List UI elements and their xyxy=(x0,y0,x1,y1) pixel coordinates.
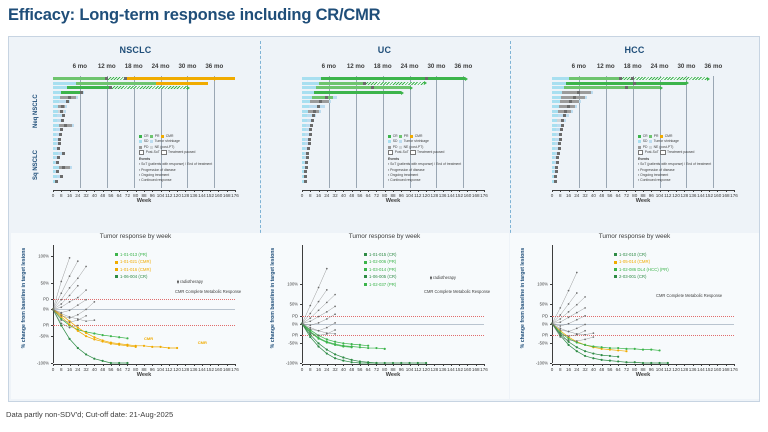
bar-segment-sd xyxy=(302,86,316,89)
x-tick-label: 96 xyxy=(399,193,404,198)
x-tick-label: 80 xyxy=(382,193,387,198)
spider-legend-label: 1-01-016 (CMR) xyxy=(120,266,151,273)
event-marker xyxy=(306,152,309,155)
x-tick-label: 168 xyxy=(472,367,480,372)
swimmer-bar xyxy=(302,128,484,131)
bar-segment-sd xyxy=(552,142,555,145)
event-marker xyxy=(312,114,315,117)
x-tick-label: 104 xyxy=(157,367,165,372)
x-tick-label: 112 xyxy=(664,367,671,372)
x-tick-label: 56 xyxy=(357,193,362,198)
legend-swatch xyxy=(139,150,144,155)
x-tick-label: 88 xyxy=(640,367,645,372)
x-tick-label: 32 xyxy=(84,367,89,372)
swimmer-bar xyxy=(552,110,734,113)
x-tick-label: 40 xyxy=(341,367,346,372)
x-tick-label: 112 xyxy=(165,367,172,372)
legend-swatch xyxy=(638,150,643,155)
legend-swatch xyxy=(150,146,153,149)
swimmer-bar xyxy=(53,110,235,113)
bar-segment-sd xyxy=(302,128,306,131)
spider-legend-label: 1-02-010 (CR) xyxy=(619,251,646,258)
spider-legend-item: 1-06-004 (CR) xyxy=(115,273,151,280)
bar-segment-sd xyxy=(302,124,306,127)
x-tick-label: 48 xyxy=(599,367,604,372)
month-tick-label: 6 mo xyxy=(572,63,586,70)
x-tick-label: 152 xyxy=(455,367,463,372)
x-tick-label: 176 xyxy=(730,367,738,372)
x-tick-label: 136 xyxy=(439,193,447,198)
week-axis: 0816243240485664728088961041121201281361… xyxy=(53,190,235,204)
event-marker xyxy=(310,124,313,127)
radiotherapy-note: ⧫ radiotherapy xyxy=(430,275,456,280)
event-marker xyxy=(363,82,366,85)
swimmer-legend: CRPRCMRSDTumor shrinkagePDNE (post-PT)Po… xyxy=(139,134,212,183)
x-tick-label: 8 xyxy=(309,367,312,372)
x-tick-label: 80 xyxy=(133,193,138,198)
spider-legend-item: 1-02-010 (CR) xyxy=(614,251,669,258)
x-tick-label: 0 xyxy=(52,367,55,372)
ongoing-arrow xyxy=(686,81,689,85)
event-marker xyxy=(556,161,559,164)
x-tick-label: 48 xyxy=(100,367,105,372)
spider-legend-label: 1-06-004 (CR) xyxy=(120,273,147,280)
swimmer-legend: CRPRCMRSDTumor shrinkagePDNE (post-PT)Po… xyxy=(388,134,461,183)
month-tick-label: 30 mo xyxy=(178,63,196,70)
spider-legend-marker xyxy=(614,253,617,256)
bar-segment-sd xyxy=(302,156,304,159)
spider-legend-item: 1-01-013 (PR) xyxy=(115,251,151,258)
legend-event-item: ▪ Continued response xyxy=(139,178,212,183)
x-tick-label: 24 xyxy=(574,193,579,198)
event-marker xyxy=(305,166,308,169)
swimmer-bar xyxy=(302,96,484,99)
swimmer-group-label: Neq NSCLC xyxy=(33,94,39,128)
legend-event-item: ▪ Continued response xyxy=(388,178,461,183)
x-tick-label: 160 xyxy=(215,367,223,372)
swimmer-bar xyxy=(552,77,734,80)
x-tick-label: 120 xyxy=(672,367,680,372)
swimmer-bar xyxy=(552,105,734,108)
legend-swatch xyxy=(388,146,391,149)
swimmer-bar xyxy=(302,110,484,113)
spider-legend-item: 1-06-005 (CR) xyxy=(364,273,396,280)
x-tick-label: 0 xyxy=(301,367,304,372)
event-marker xyxy=(325,96,328,99)
x-tick-label: 88 xyxy=(390,193,395,198)
x-tick-label: 176 xyxy=(231,193,239,198)
swimmer-bar xyxy=(53,86,235,89)
bar-segment-sd xyxy=(53,147,55,150)
event-marker xyxy=(569,100,572,103)
month-tick-label: 24 mo xyxy=(651,63,669,70)
bar-segment-sd xyxy=(552,100,560,103)
x-tick-label: 24 xyxy=(75,193,80,198)
month-axis: 6 mo12 mo18 mo24 mo30 mo36 mo xyxy=(11,63,260,75)
spider-legend-item: 1-02-006 (PR) xyxy=(364,258,396,265)
event-marker xyxy=(57,147,60,150)
event-marker xyxy=(62,114,65,117)
x-tick-label: 176 xyxy=(730,193,738,198)
month-tick-label: 12 mo xyxy=(98,63,116,70)
legend-event-item: ▪ Continued response xyxy=(638,178,711,183)
x-tick-label: 56 xyxy=(108,367,113,372)
event-marker xyxy=(307,147,310,150)
ongoing-arrow xyxy=(187,86,190,90)
swimmer-bar xyxy=(53,124,235,127)
legend-label: Treatment paused xyxy=(168,150,195,155)
spider-legend-label: 1-03-014 (PR) xyxy=(369,266,396,273)
legend-row: Post-SoTTreatment paused xyxy=(139,150,212,155)
x-tick-label: 160 xyxy=(464,367,472,372)
x-tick-label: 168 xyxy=(223,367,231,372)
x-tick-label: 88 xyxy=(141,367,146,372)
panel-title-uc: UC xyxy=(260,45,509,55)
event-marker xyxy=(59,133,62,136)
x-tick-label: 64 xyxy=(117,193,122,198)
event-marker xyxy=(559,133,562,136)
event-marker xyxy=(313,110,316,113)
bar-segment-sd xyxy=(552,105,559,108)
spider-legend: 1-02-010 (CR)1-05-014 (CMR)1-02-086 DL4 … xyxy=(614,251,669,281)
x-tick-label: 96 xyxy=(649,193,654,198)
legend-event-item: ▪ SoT (patients with response) / End of … xyxy=(638,162,711,167)
event-marker xyxy=(559,138,562,141)
x-tick-label: 72 xyxy=(624,367,629,372)
spider-legend-item: 1-01-015 (CR) xyxy=(364,251,396,258)
event-marker xyxy=(319,100,322,103)
spider-legend-label: 1-01-015 (CR) xyxy=(369,251,396,258)
bar-segment-sd xyxy=(53,82,76,85)
event-marker xyxy=(55,180,58,183)
x-tick-label: 136 xyxy=(190,193,198,198)
x-tick-label: 96 xyxy=(150,367,155,372)
spider-legend-item: 1-02-037 (PR) xyxy=(364,281,396,288)
x-axis-title: Week xyxy=(552,372,734,378)
bar-segment-sd xyxy=(302,147,305,150)
event-marker xyxy=(425,77,428,80)
swimmer-bar xyxy=(552,114,734,117)
bar-segment-sd xyxy=(53,175,57,178)
event-marker xyxy=(58,142,61,145)
x-tick-label: 144 xyxy=(697,367,705,372)
legend-label: Post-SoT xyxy=(146,150,160,155)
event-marker xyxy=(66,100,69,103)
spider-legend-marker xyxy=(364,283,367,286)
week-axis: 0816243240485664728088961041121201281361… xyxy=(552,190,734,204)
bar-segment-pr xyxy=(319,82,365,85)
swimmer-plot-hcc: 6 mo12 mo18 mo24 mo30 mo36 moCRPRCMRSDTu… xyxy=(510,63,759,215)
ongoing-arrow xyxy=(410,86,413,90)
cmr-expansion-note: CMR Complete Metabolic Response xyxy=(175,289,241,294)
x-tick-label: 128 xyxy=(182,193,190,198)
x-tick-label: 80 xyxy=(632,367,637,372)
event-marker xyxy=(560,128,563,131)
swimmer-bar xyxy=(552,128,734,131)
bar-segment-sd xyxy=(302,114,307,117)
swimmer-bar xyxy=(302,100,484,103)
legend-swatch xyxy=(150,140,153,143)
x-tick-label: 32 xyxy=(583,193,588,198)
x-tick-label: 48 xyxy=(349,367,354,372)
x-tick-label: 0 xyxy=(52,193,55,198)
bar-segment-pr xyxy=(564,86,659,89)
event-marker xyxy=(60,175,63,178)
bar-segment-sd xyxy=(552,147,555,150)
bar-segment-sd xyxy=(302,152,304,155)
spider-legend-label: 1-02-086 DL4 (HCC) (PR) xyxy=(619,266,669,273)
spider-legend-label: 1-05-014 (CMR) xyxy=(619,258,650,265)
event-marker xyxy=(567,105,570,108)
swimmer-bar xyxy=(302,91,484,94)
ongoing-arrow xyxy=(660,86,663,90)
x-tick-label: 72 xyxy=(374,193,379,198)
swimmer-bar xyxy=(552,100,734,103)
x-tick-label: 136 xyxy=(439,367,447,372)
panel-uc: UC6 mo12 mo18 mo24 mo30 mo36 moCRPRCMRSD… xyxy=(260,37,509,401)
event-marker xyxy=(68,96,71,99)
event-marker xyxy=(57,156,60,159)
x-tick-label: 176 xyxy=(480,367,488,372)
event-marker xyxy=(555,170,558,173)
bar-segment-pr xyxy=(569,77,621,80)
bar-segment-sd xyxy=(552,138,555,141)
swimmer-legend: CRPRCMRSDTumor shrinkagePDNE (post-PT)Po… xyxy=(638,134,711,183)
x-tick-label: 168 xyxy=(722,193,730,198)
bar-segment-cr xyxy=(321,77,466,80)
legend-swatch xyxy=(161,150,166,155)
swimmer-bar xyxy=(552,96,734,99)
event-marker xyxy=(306,156,309,159)
x-tick-label: 136 xyxy=(190,367,198,372)
spider-plot-nsclc: Tumor response by week100%50%PD0%PR-50%-… xyxy=(11,233,260,399)
event-marker xyxy=(60,110,63,113)
x-tick-label: 96 xyxy=(649,367,654,372)
bar-segment-hatch xyxy=(364,82,424,85)
swimmer-bar xyxy=(53,91,235,94)
x-tick-label: 32 xyxy=(84,193,89,198)
x-tick-label: 16 xyxy=(566,193,571,198)
bar-segment-sd xyxy=(53,128,56,131)
spider-legend: 1-01-015 (CR)1-02-006 (PR)1-03-014 (PR)1… xyxy=(364,251,396,288)
swimmer-bar xyxy=(302,82,484,85)
swimmer-bar xyxy=(53,96,235,99)
spider-legend-label: 1-01-021 (CMR) xyxy=(120,258,151,265)
x-tick-label: 32 xyxy=(583,367,588,372)
legend-swatch xyxy=(660,135,663,138)
x-tick-label: 64 xyxy=(117,367,122,372)
legend-swatch xyxy=(399,140,402,143)
swimmer-bars-area xyxy=(510,76,759,188)
x-tick-label: 120 xyxy=(173,367,181,372)
event-marker xyxy=(304,180,307,183)
x-tick-label: 112 xyxy=(664,193,671,198)
spider-legend-item: 1-02-086 DL4 (HCC) (PR) xyxy=(614,266,669,273)
bar-segment-sd xyxy=(302,91,314,94)
spider-legend-item: 2-03-001 (CR) xyxy=(614,273,669,280)
bar-segment-sd xyxy=(552,156,554,159)
x-tick-label: 8 xyxy=(559,193,562,198)
x-tick-label: 136 xyxy=(689,193,697,198)
event-marker xyxy=(60,128,63,131)
legend-swatch xyxy=(399,146,402,149)
x-tick-label: 56 xyxy=(108,193,113,198)
ongoing-arrow xyxy=(707,77,710,81)
spider-legend-marker xyxy=(115,261,118,264)
ongoing-arrow xyxy=(214,77,217,81)
legend-swatch xyxy=(410,135,413,138)
month-tick-label: 12 mo xyxy=(347,63,365,70)
bar-segment-pr xyxy=(312,96,333,99)
bar-segment-hatch xyxy=(111,86,188,89)
event-marker xyxy=(371,86,374,89)
x-tick-label: 64 xyxy=(366,193,371,198)
month-axis: 6 mo12 mo18 mo24 mo30 mo36 mo xyxy=(510,63,759,75)
event-marker xyxy=(109,86,112,89)
spider-legend-marker xyxy=(364,261,367,264)
week-axis: 0816243240485664728088961041121201281361… xyxy=(552,364,734,378)
x-tick-label: 152 xyxy=(206,193,214,198)
bar-segment-sd xyxy=(53,133,56,136)
radiotherapy-note: ⧫ radiotherapy xyxy=(177,279,203,284)
event-marker xyxy=(58,138,61,141)
bar-segment-sd xyxy=(302,82,319,85)
x-tick-label: 72 xyxy=(374,367,379,372)
footer-note: Data partly non-SDV'd; Cut-off date: 21-… xyxy=(6,410,173,419)
spider-legend-marker xyxy=(115,253,118,256)
event-marker xyxy=(577,91,580,94)
spider-legend: 1-01-013 (PR)1-01-021 (CMR)1-01-016 (CMR… xyxy=(115,251,151,281)
x-tick-label: 32 xyxy=(333,193,338,198)
x-tick-label: 64 xyxy=(366,367,371,372)
spider-legend-marker xyxy=(614,261,617,264)
legend-swatch xyxy=(388,150,393,155)
bar-segment-sd xyxy=(302,119,307,122)
x-axis-title: Week xyxy=(53,372,235,378)
event-marker xyxy=(564,110,567,113)
swimmer-plot-uc: 6 mo12 mo18 mo24 mo30 mo36 moCRPRCMRSDTu… xyxy=(260,63,509,215)
spider-legend-item: 1-05-014 (CMR) xyxy=(614,258,669,265)
content-frame: NSCLC6 mo12 mo18 mo24 mo30 mo36 moNeq NS… xyxy=(8,36,760,402)
legend-swatch xyxy=(649,135,652,138)
event-marker xyxy=(555,166,558,169)
week-axis: 0816243240485664728088961041121201281361… xyxy=(302,364,484,378)
swimmer-bars-area xyxy=(260,76,509,188)
bar-segment-cr xyxy=(314,91,401,94)
x-tick-label: 80 xyxy=(133,367,138,372)
event-marker xyxy=(311,119,314,122)
event-marker xyxy=(563,114,566,117)
bar-segment-sd xyxy=(302,142,305,145)
x-tick-label: 136 xyxy=(689,367,697,372)
spider-plot-hcc: Tumor response by week100%50%PD0%PR-50%-… xyxy=(510,233,759,399)
month-axis: 6 mo12 mo18 mo24 mo30 mo36 mo xyxy=(260,63,509,75)
panel-title-nsclc: NSCLC xyxy=(11,45,260,55)
bar-segment-sd xyxy=(302,77,321,80)
panel-title-hcc: HCC xyxy=(510,45,759,55)
x-tick-label: 88 xyxy=(141,193,146,198)
x-axis-title: Week xyxy=(302,372,484,378)
bar-segment-sd xyxy=(53,100,59,103)
x-tick-label: 112 xyxy=(414,193,421,198)
legend-event-item: ▪ SoT (patients with response) / End of … xyxy=(139,162,212,167)
month-tick-label: 18 mo xyxy=(125,63,143,70)
spider-legend-marker xyxy=(364,275,367,278)
x-tick-label: 144 xyxy=(447,193,455,198)
legend-label: Treatment paused xyxy=(667,150,694,155)
bar-segment-sd xyxy=(552,96,561,99)
legend-swatch xyxy=(660,150,665,155)
event-marker xyxy=(308,142,311,145)
spider-legend-marker xyxy=(364,268,367,271)
event-marker xyxy=(62,152,65,155)
ongoing-arrow xyxy=(465,77,468,81)
x-tick-label: 96 xyxy=(150,193,155,198)
month-tick-label: 36 mo xyxy=(704,63,722,70)
bar-segment-cr xyxy=(566,82,686,85)
spider-legend-marker xyxy=(614,268,617,271)
legend-swatch xyxy=(150,135,153,138)
month-tick-label: 30 mo xyxy=(427,63,445,70)
bar-segment-sd xyxy=(53,114,57,117)
x-tick-label: 40 xyxy=(92,367,97,372)
x-tick-label: 128 xyxy=(681,193,689,198)
event-marker xyxy=(561,119,564,122)
x-tick-label: 176 xyxy=(480,193,488,198)
x-tick-label: 16 xyxy=(566,367,571,372)
legend-swatch xyxy=(399,135,402,138)
x-tick-label: 16 xyxy=(316,193,321,198)
x-tick-label: 128 xyxy=(431,367,439,372)
swimmer-bar xyxy=(552,82,734,85)
bar-segment-sd xyxy=(552,114,558,117)
x-tick-label: 8 xyxy=(60,193,63,198)
legend-swatch xyxy=(139,135,142,138)
x-tick-label: 48 xyxy=(100,193,105,198)
slide-root: Efficacy: Long-term response including C… xyxy=(0,0,768,432)
event-marker xyxy=(558,142,561,145)
x-axis-title: Week xyxy=(302,198,484,204)
bar-segment-cmr xyxy=(156,82,208,85)
x-tick-label: 120 xyxy=(422,367,430,372)
month-tick-label: 6 mo xyxy=(73,63,87,70)
spider-legend-marker xyxy=(614,275,617,278)
week-axis: 0816243240485664728088961041121201281361… xyxy=(53,364,235,378)
month-tick-label: 24 mo xyxy=(401,63,419,70)
event-marker xyxy=(561,124,564,127)
swimmer-bar xyxy=(53,82,235,85)
x-tick-label: 104 xyxy=(406,367,414,372)
ongoing-arrow xyxy=(424,81,427,85)
event-marker xyxy=(308,138,311,141)
x-tick-label: 40 xyxy=(591,193,596,198)
x-tick-label: 80 xyxy=(382,367,387,372)
x-tick-label: 168 xyxy=(472,193,480,198)
spider-legend-item: 1-01-016 (CMR) xyxy=(115,266,151,273)
x-tick-label: 96 xyxy=(399,367,404,372)
event-marker xyxy=(317,105,320,108)
event-marker xyxy=(556,156,559,159)
bar-segment-cr xyxy=(67,86,110,89)
swimmer-bar xyxy=(552,119,734,122)
legend-event-item: ▪ SoT (patients with response) / End of … xyxy=(388,162,461,167)
event-marker xyxy=(56,170,59,173)
x-tick-label: 144 xyxy=(697,193,705,198)
swimmer-bar xyxy=(552,86,734,89)
x-tick-label: 72 xyxy=(125,193,130,198)
x-axis-title: Week xyxy=(53,198,235,204)
month-tick-label: 12 mo xyxy=(597,63,615,70)
